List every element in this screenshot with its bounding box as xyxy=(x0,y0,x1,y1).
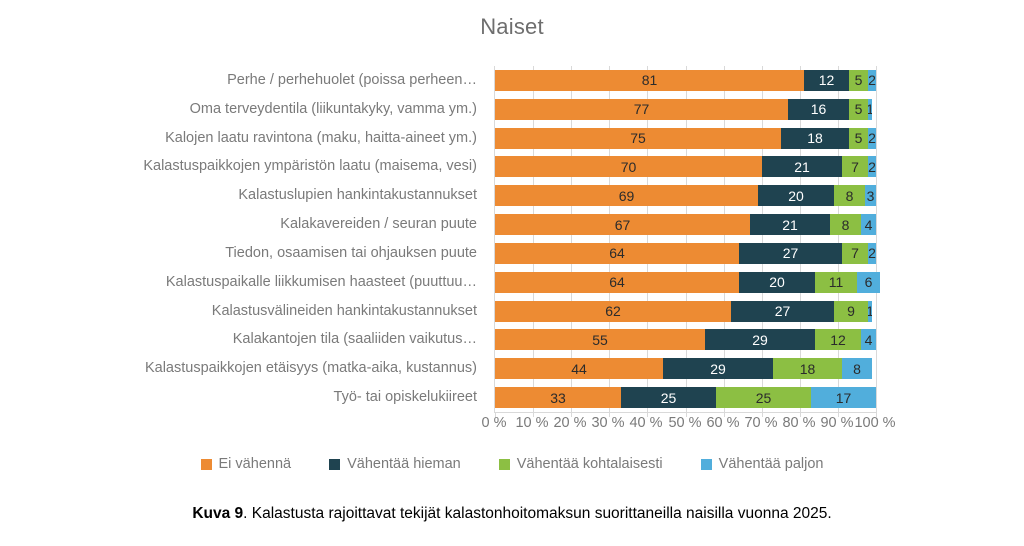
bar-value-label: 2 xyxy=(868,73,876,87)
bar-value-label: 33 xyxy=(550,391,566,405)
bar-segment: 21 xyxy=(750,214,830,235)
bar-segment: 8 xyxy=(830,214,861,235)
category-label: Kalakavereiden / seuran puute xyxy=(280,217,477,232)
bar-value-label: 1 xyxy=(868,304,872,318)
bar-segment: 18 xyxy=(773,358,842,379)
bar-segment: 67 xyxy=(495,214,750,235)
bar-segment: 2 xyxy=(868,128,876,149)
bar-segment: 12 xyxy=(815,329,861,350)
bar-segment: 81 xyxy=(495,70,804,91)
bar-segment: 27 xyxy=(731,301,834,322)
bar-value-label: 69 xyxy=(619,189,635,203)
bar-segment: 17 xyxy=(811,387,876,408)
bar-value-label: 1 xyxy=(868,102,872,116)
category-label: Kalastuspaikalle liikkumisen haasteet (p… xyxy=(166,275,477,290)
bar-segment: 7 xyxy=(842,156,868,177)
stacked-bar-row: 622791 xyxy=(495,301,876,322)
bar-value-label: 75 xyxy=(630,131,646,145)
x-axis-tick-label: 10 % xyxy=(515,416,548,431)
bar-value-label: 25 xyxy=(661,391,677,405)
bar-value-label: 16 xyxy=(811,102,827,116)
legend-label: Vähentää kohtalaisesti xyxy=(517,456,663,472)
bar-value-label: 5 xyxy=(855,102,863,116)
bar-segment: 5 xyxy=(849,70,868,91)
bar-value-label: 21 xyxy=(794,160,810,174)
bar-value-label: 8 xyxy=(846,189,854,203)
bar-segment: 75 xyxy=(495,128,781,149)
bar-value-label: 2 xyxy=(868,131,876,145)
bar-value-label: 20 xyxy=(788,189,804,203)
bar-segment: 44 xyxy=(495,358,663,379)
bar-value-label: 62 xyxy=(605,304,621,318)
bar-segment: 21 xyxy=(762,156,842,177)
bar-value-label: 12 xyxy=(830,333,846,347)
bar-value-label: 4 xyxy=(865,218,873,232)
bar-value-label: 5 xyxy=(855,131,863,145)
bar-segment: 18 xyxy=(781,128,849,149)
bar-value-label: 70 xyxy=(621,160,637,174)
bar-segment: 11 xyxy=(815,272,857,293)
bar-value-label: 21 xyxy=(782,218,798,232)
bar-value-label: 77 xyxy=(634,102,650,116)
x-axis-tick-label: 30 % xyxy=(591,416,624,431)
bar-segment: 1 xyxy=(868,301,872,322)
x-axis-tick-label: 80 % xyxy=(782,416,815,431)
bar-segment: 8 xyxy=(842,358,872,379)
category-label: Perhe / perhehuolet (poissa perheen… xyxy=(227,73,477,88)
stacked-bar-row: 4429188 xyxy=(495,358,876,379)
bar-value-label: 18 xyxy=(800,362,816,376)
stacked-bar-row: 751852 xyxy=(495,128,876,149)
category-label: Kalastuslupien hankintakustannukset xyxy=(238,188,477,203)
bar-segment: 33 xyxy=(495,387,621,408)
bar-segment: 20 xyxy=(758,185,834,206)
x-axis-tick-label: 90 % xyxy=(820,416,853,431)
legend-item[interactable]: Vähentää kohtalaisesti xyxy=(499,456,663,472)
bar-value-label: 44 xyxy=(571,362,587,376)
bar-segment: 5 xyxy=(849,128,868,149)
bar-value-label: 7 xyxy=(851,160,859,174)
bar-value-label: 12 xyxy=(819,73,835,87)
bar-segment: 20 xyxy=(739,272,815,293)
bar-value-label: 81 xyxy=(642,73,658,87)
legend-swatch-icon xyxy=(499,459,510,470)
bar-segment: 29 xyxy=(705,329,815,350)
category-label: Kalastuspaikkojen ympäristön laatu (mais… xyxy=(143,159,477,174)
bar-segment: 9 xyxy=(834,301,868,322)
legend-swatch-icon xyxy=(201,459,212,470)
category-label: Kalojen laatu ravintona (maku, haitta-ai… xyxy=(165,131,477,146)
stacked-bar-row: 771651 xyxy=(495,99,876,120)
category-label: Kalastusvälineiden hankintakustannukset xyxy=(212,304,477,319)
bar-segment: 3 xyxy=(865,185,876,206)
bar-value-label: 27 xyxy=(775,304,791,318)
bar-segment: 4 xyxy=(861,329,876,350)
bar-segment: 7 xyxy=(842,243,868,264)
legend-label: Vähentää paljon xyxy=(719,456,824,472)
stacked-bar-row: 692083 xyxy=(495,185,876,206)
bar-value-label: 8 xyxy=(853,362,861,376)
category-label: Oma terveydentila (liikuntakyky, vamma y… xyxy=(190,102,477,117)
category-label: Kalastuspaikkojen etäisyys (matka-aika, … xyxy=(145,361,477,376)
stacked-bar-row: 33252517 xyxy=(495,387,876,408)
x-axis-tick-label: 70 % xyxy=(744,416,777,431)
stacked-bar-row: 702172 xyxy=(495,156,876,177)
category-label: Kalakantojen tila (saaliiden vaikutus… xyxy=(233,332,477,347)
bar-segment: 12 xyxy=(804,70,849,91)
x-axis-tick-label: 40 % xyxy=(629,416,662,431)
bar-value-label: 5 xyxy=(855,73,863,87)
legend-swatch-icon xyxy=(701,459,712,470)
legend-label: Vähentää hieman xyxy=(347,456,461,472)
bar-value-label: 9 xyxy=(847,304,855,318)
bar-segment: 62 xyxy=(495,301,731,322)
bar-segment: 8 xyxy=(834,185,865,206)
bar-segment: 5 xyxy=(849,99,868,120)
bar-segment: 64 xyxy=(495,272,739,293)
x-axis-tick-label: 60 % xyxy=(706,416,739,431)
x-axis-tick-label: 0 % xyxy=(482,416,507,431)
bar-value-label: 29 xyxy=(710,362,726,376)
bar-value-label: 67 xyxy=(615,218,631,232)
bar-value-label: 7 xyxy=(851,246,859,260)
bar-value-label: 4 xyxy=(865,333,873,347)
bar-segment: 55 xyxy=(495,329,705,350)
legend-item[interactable]: Ei vähennä xyxy=(201,456,292,472)
bar-segment: 25 xyxy=(716,387,811,408)
x-axis-labels: 0 %10 %20 %30 %40 %50 %60 %70 %80 %90 %1… xyxy=(494,416,875,438)
gridline xyxy=(876,66,877,412)
bar-segment: 6 xyxy=(857,272,880,293)
bar-value-label: 55 xyxy=(592,333,608,347)
bar-segment: 70 xyxy=(495,156,762,177)
bar-segment: 2 xyxy=(868,243,876,264)
bar-value-label: 2 xyxy=(868,246,876,260)
chart-title: Naiset xyxy=(0,14,1024,40)
bar-value-label: 11 xyxy=(829,275,844,289)
category-label: Työ- tai opiskelukiireet xyxy=(334,390,477,405)
legend-label: Ei vähennä xyxy=(219,456,292,472)
bar-segment: 4 xyxy=(861,214,876,235)
bar-segment: 1 xyxy=(868,99,872,120)
x-axis-tick-label: 20 % xyxy=(553,416,586,431)
x-axis-tick-label: 100 % xyxy=(854,416,895,431)
stacked-bar-row: 811252 xyxy=(495,70,876,91)
bar-value-label: 25 xyxy=(756,391,772,405)
stacked-bar-row: 6420116 xyxy=(495,272,876,293)
plot-area: 8112527716517518527021726920836721846427… xyxy=(494,66,876,413)
bar-value-label: 18 xyxy=(807,131,823,145)
x-axis-tick-label: 50 % xyxy=(668,416,701,431)
caption-label: Kuva 9 xyxy=(192,505,243,522)
bar-value-label: 27 xyxy=(783,246,799,260)
bar-segment: 27 xyxy=(739,243,842,264)
bar-value-label: 6 xyxy=(865,275,873,289)
bar-value-label: 20 xyxy=(769,275,785,289)
bar-segment: 29 xyxy=(663,358,773,379)
figure-caption: Kuva 9. Kalastusta rajoittavat tekijät k… xyxy=(0,505,1024,523)
legend-swatch-icon xyxy=(329,459,340,470)
bar-segment: 69 xyxy=(495,185,758,206)
category-axis-labels: Perhe / perhehuolet (poissa perheen…Oma … xyxy=(60,66,485,412)
bar-value-label: 64 xyxy=(609,275,625,289)
caption-text: . Kalastusta rajoittavat tekijät kalasto… xyxy=(243,505,832,522)
legend-item[interactable]: Vähentää paljon xyxy=(701,456,824,472)
chart-legend: Ei vähennäVähentää hiemanVähentää kohtal… xyxy=(0,456,1024,472)
chart-plot-wrapper: Perhe / perhehuolet (poissa perheen…Oma … xyxy=(0,60,1024,420)
bar-segment: 2 xyxy=(868,70,876,91)
category-label: Tiedon, osaamisen tai ohjauksen puute xyxy=(225,246,477,261)
stacked-bar-row: 5529124 xyxy=(495,329,876,350)
bar-segment: 16 xyxy=(788,99,849,120)
bar-value-label: 8 xyxy=(842,218,850,232)
stacked-bar-row: 642772 xyxy=(495,243,876,264)
legend-item[interactable]: Vähentää hieman xyxy=(329,456,461,472)
bar-segment: 77 xyxy=(495,99,788,120)
bar-segment: 2 xyxy=(868,156,876,177)
bar-value-label: 2 xyxy=(868,160,876,174)
bar-segment: 25 xyxy=(621,387,716,408)
bar-value-label: 17 xyxy=(836,391,852,405)
bar-segment: 64 xyxy=(495,243,739,264)
bar-value-label: 29 xyxy=(752,333,768,347)
bar-value-label: 64 xyxy=(609,246,625,260)
bar-value-label: 3 xyxy=(867,189,875,203)
figure-container: Naiset Perhe / perhehuolet (poissa perhe… xyxy=(0,0,1024,546)
stacked-bar-row: 672184 xyxy=(495,214,876,235)
